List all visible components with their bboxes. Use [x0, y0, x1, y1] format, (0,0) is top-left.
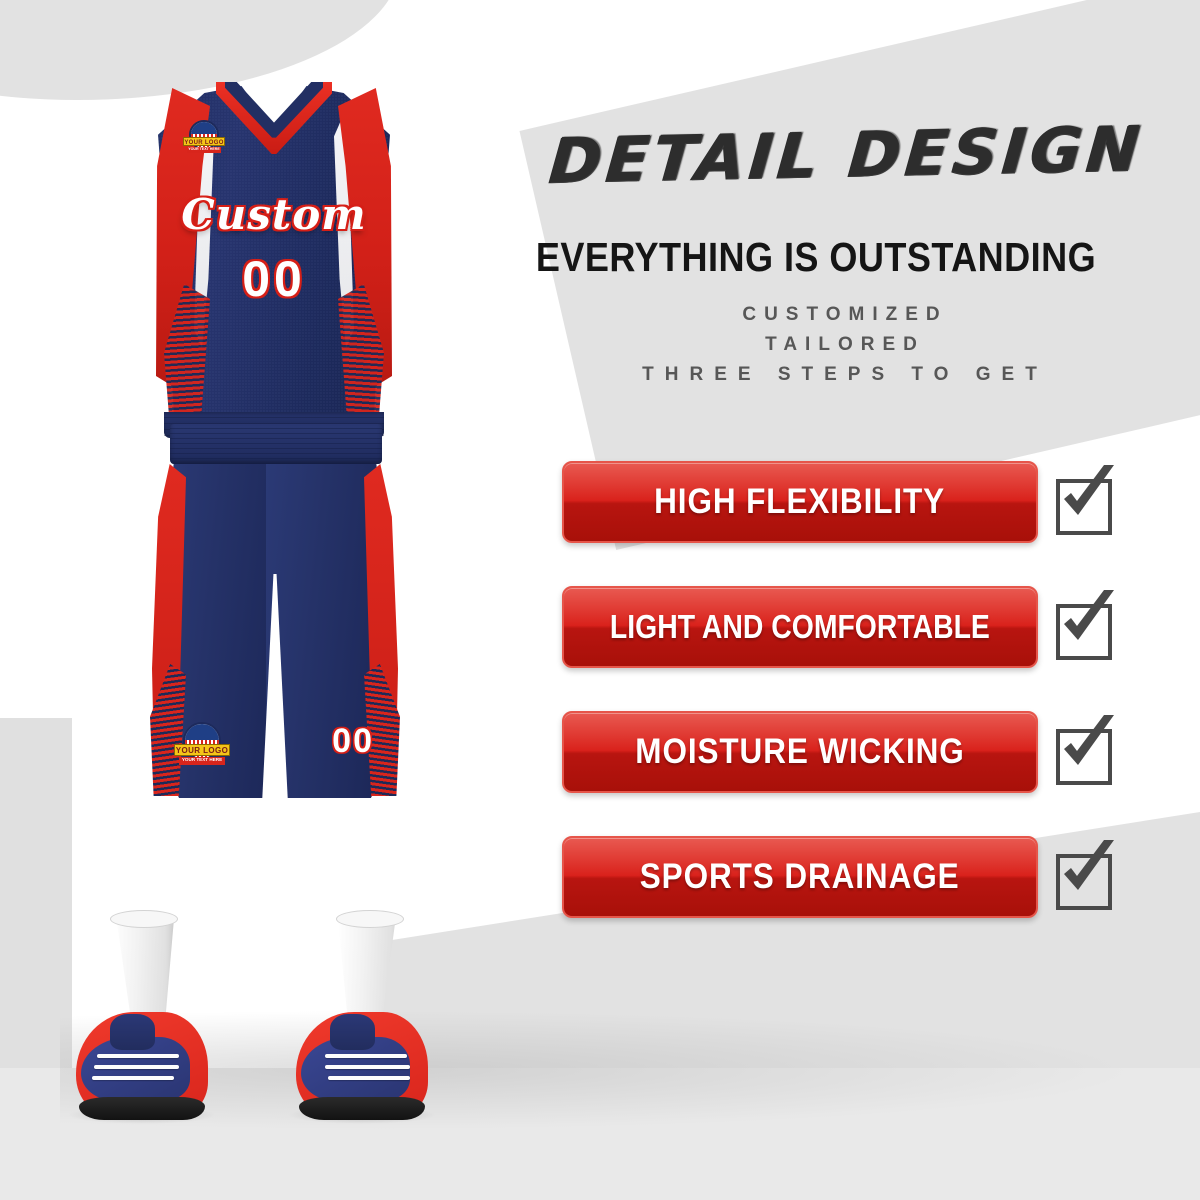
feature-banner-high-flexibility[interactable]: HIGH FLEXIBILITY — [562, 461, 1038, 543]
logo-ribbon-text: YOUR LOGO — [183, 137, 225, 146]
tagline-2: TAILORED — [510, 330, 1180, 360]
tagline-1: CUSTOMIZED — [510, 300, 1180, 330]
promo-graphic: YOUR LOGO YOUR TEXT HERE Custom 00 YOUR … — [0, 0, 1200, 1200]
shoe-sole — [79, 1097, 206, 1120]
feature-banner-sports-drainage[interactable]: SPORTS DRAINAGE — [562, 836, 1038, 918]
shoe-lace — [92, 1076, 174, 1080]
shoe-lace — [325, 1054, 407, 1058]
shoe-left — [76, 1012, 208, 1118]
shoe-lace — [97, 1054, 179, 1058]
sock-cuff-right — [336, 910, 404, 928]
shorts-waistband-texture — [170, 424, 382, 464]
jersey-logo-badge: YOUR LOGO YOUR TEXT HERE — [182, 120, 226, 160]
marketing-content: DETAIL DESIGN EVERYTHING IS OUTSTANDING … — [490, 0, 1200, 1200]
feature-label: MOISTURE WICKING — [635, 732, 964, 772]
logo-ribbon-text: YOUR LOGO — [174, 744, 230, 756]
logo-sub-text: YOUR TEXT HERE — [187, 147, 221, 153]
shorts-number: 00 — [332, 722, 374, 761]
shoe-tongue — [330, 1014, 375, 1050]
footwear — [70, 900, 470, 1140]
feature-label: HIGH FLEXIBILITY — [655, 482, 946, 522]
feature-list: HIGH FLEXIBILITY LIGHT AND COMFORTABLE — [562, 455, 1182, 955]
page-title: DETAIL DESIGN — [508, 111, 1185, 198]
basketball-jersey: YOUR LOGO YOUR TEXT HERE Custom 00 — [150, 78, 398, 438]
basketball-shorts: YOUR LOGO YOUR TEXT HERE 00 — [140, 424, 410, 806]
page-subtitle: EVERYTHING IS OUTSTANDING — [517, 234, 1115, 281]
shoe-tongue — [110, 1014, 155, 1050]
feature-row: LIGHT AND COMFORTABLE — [562, 580, 1182, 705]
shorts-logo-badge: YOUR LOGO YOUR TEXT HERE — [172, 722, 232, 774]
feature-banner-light-and-comfortable[interactable]: LIGHT AND COMFORTABLE — [562, 586, 1038, 668]
jersey-number: 00 — [150, 250, 398, 308]
logo-sub-text: YOUR TEXT HERE — [179, 757, 225, 765]
feature-label: LIGHT AND COMFORTABLE — [610, 608, 990, 646]
sock-cuff-left — [110, 910, 178, 928]
shoe-lace — [328, 1076, 410, 1080]
shoe-lace — [94, 1065, 178, 1069]
jersey-team-name: Custom — [150, 190, 398, 239]
feature-checkbox-sports-drainage[interactable] — [1054, 844, 1116, 906]
feature-row: MOISTURE WICKING — [562, 705, 1182, 830]
feature-row: SPORTS DRAINAGE — [562, 830, 1182, 955]
checkmark-icon — [1054, 840, 1116, 902]
product-photo: YOUR LOGO YOUR TEXT HERE Custom 00 YOUR … — [0, 0, 500, 1200]
feature-label: SPORTS DRAINAGE — [640, 857, 960, 897]
feature-checkbox-high-flexibility[interactable] — [1054, 469, 1116, 531]
shoe-right — [296, 1012, 428, 1118]
feature-row: HIGH FLEXIBILITY — [562, 455, 1182, 580]
checkmark-icon — [1054, 465, 1116, 527]
shoe-lace — [325, 1065, 409, 1069]
tagline-block: CUSTOMIZED TAILORED THREE STEPS TO GET — [510, 300, 1180, 390]
shoe-sole — [299, 1097, 426, 1120]
checkmark-icon — [1054, 715, 1116, 777]
checkmark-icon — [1054, 590, 1116, 652]
feature-checkbox-light-and-comfortable[interactable] — [1054, 594, 1116, 656]
feature-banner-moisture-wicking[interactable]: MOISTURE WICKING — [562, 711, 1038, 793]
feature-checkbox-moisture-wicking[interactable] — [1054, 719, 1116, 781]
shorts-waistband — [170, 424, 382, 464]
tagline-3: THREE STEPS TO GET — [510, 360, 1180, 390]
